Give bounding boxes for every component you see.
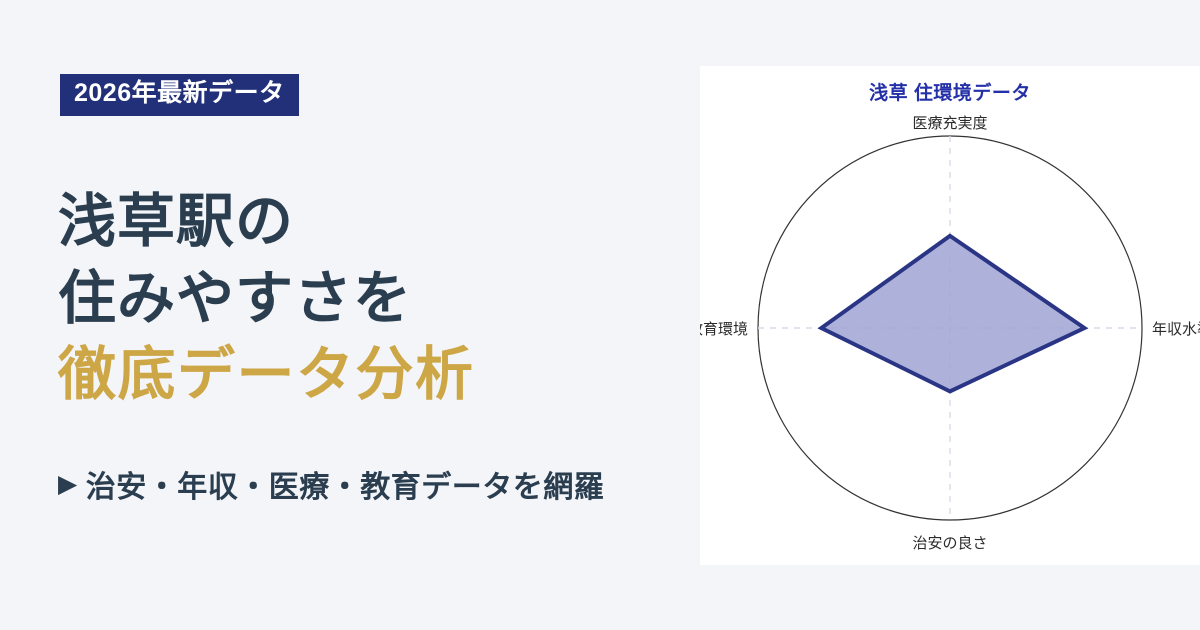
hero-banner: 2026年最新データ 浅草駅の 住みやすさを 徹底データ分析 ▶ 治安・年収・医… [0, 0, 1200, 630]
radar-chart: 医療充実度 年収水準 治安の良さ 教育環境 [700, 66, 1200, 565]
radar-label-medical: 医療充実度 [912, 115, 987, 132]
badge-label: 2026年最新データ [74, 79, 285, 107]
radar-label-education: 教育環境 [700, 320, 748, 338]
chart-card: 浅草 住環境データ 医療充実度 年収水準 治安の良さ 教育環境 [700, 66, 1200, 565]
headline-line-2: 住みやすさを [58, 261, 698, 338]
radar-data-polygon [821, 236, 1084, 392]
subtitle: ▶ 治安・年収・医療・教育データを網羅 [58, 462, 604, 506]
subtitle-text: 治安・年収・医療・教育データを網羅 [86, 462, 605, 506]
headline-line-1: 浅草駅の [58, 184, 698, 261]
radar-label-safety: 治安の良さ [912, 535, 987, 552]
triangle-right-icon: ▶ [58, 472, 78, 497]
left-content-panel: 2026年最新データ 浅草駅の 住みやすさを 徹底データ分析 ▶ 治安・年収・医… [0, 0, 700, 630]
radar-label-income: 年収水準 [1152, 321, 1200, 338]
page-title: 浅草駅の 住みやすさを 徹底データ分析 [58, 184, 698, 414]
headline-line-3: 徹底データ分析 [58, 337, 698, 414]
status-badge: 2026年最新データ [60, 74, 299, 116]
